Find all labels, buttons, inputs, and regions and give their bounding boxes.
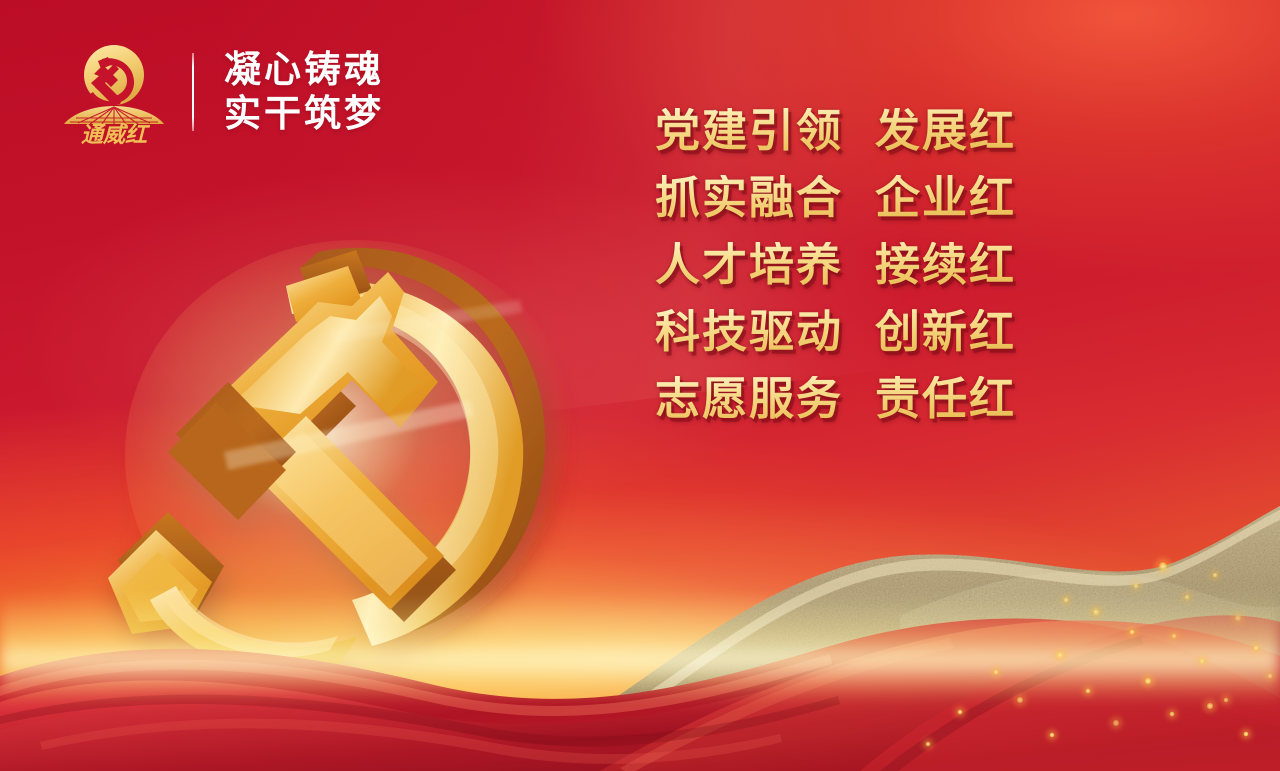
- slogan-left-phrase: 志愿服务: [655, 376, 875, 421]
- slogan-right-phrase: 发展红: [875, 108, 1045, 153]
- poster-canvas: 通威红 凝心铸魂 实干筑梦 党建引领 发展红 抓实融合 企业红 人才培养 接续红…: [0, 0, 1280, 771]
- slogan-right-phrase: 接续红: [875, 242, 1045, 287]
- brand-slogan: 凝心铸魂 实干筑梦: [224, 48, 384, 135]
- slogan-right-phrase: 创新红: [875, 309, 1045, 354]
- vertical-divider: [192, 53, 194, 131]
- brand-header: 通威红 凝心铸魂 实干筑梦: [62, 38, 384, 146]
- slogan-row: 科技驱动 创新红: [655, 309, 1045, 354]
- brand-slogan-line-1: 凝心铸魂: [224, 48, 384, 92]
- horizon-glow-band: [0, 592, 1280, 702]
- slogan-right-phrase: 责任红: [875, 376, 1045, 421]
- party-emblem-badge-logo: 通威红: [62, 38, 166, 146]
- slogan-left-phrase: 抓实融合: [655, 175, 875, 220]
- slogan-row: 抓实融合 企业红: [655, 175, 1045, 220]
- slogan-row: 志愿服务 责任红: [655, 376, 1045, 421]
- slogan-left-phrase: 科技驱动: [655, 309, 875, 354]
- slogan-right-phrase: 企业红: [875, 175, 1045, 220]
- brand-logo-caption: 通威红: [81, 122, 151, 146]
- slogan-left-phrase: 党建引领: [655, 108, 875, 153]
- slogan-left-phrase: 人才培养: [655, 242, 875, 287]
- slogan-row: 党建引领 发展红: [655, 108, 1045, 153]
- brand-slogan-line-2: 实干筑梦: [224, 92, 384, 136]
- slogan-row: 人才培养 接续红: [655, 242, 1045, 287]
- slogan-grid: 党建引领 发展红 抓实融合 企业红 人才培养 接续红 科技驱动 创新红 志愿服务…: [655, 108, 1045, 421]
